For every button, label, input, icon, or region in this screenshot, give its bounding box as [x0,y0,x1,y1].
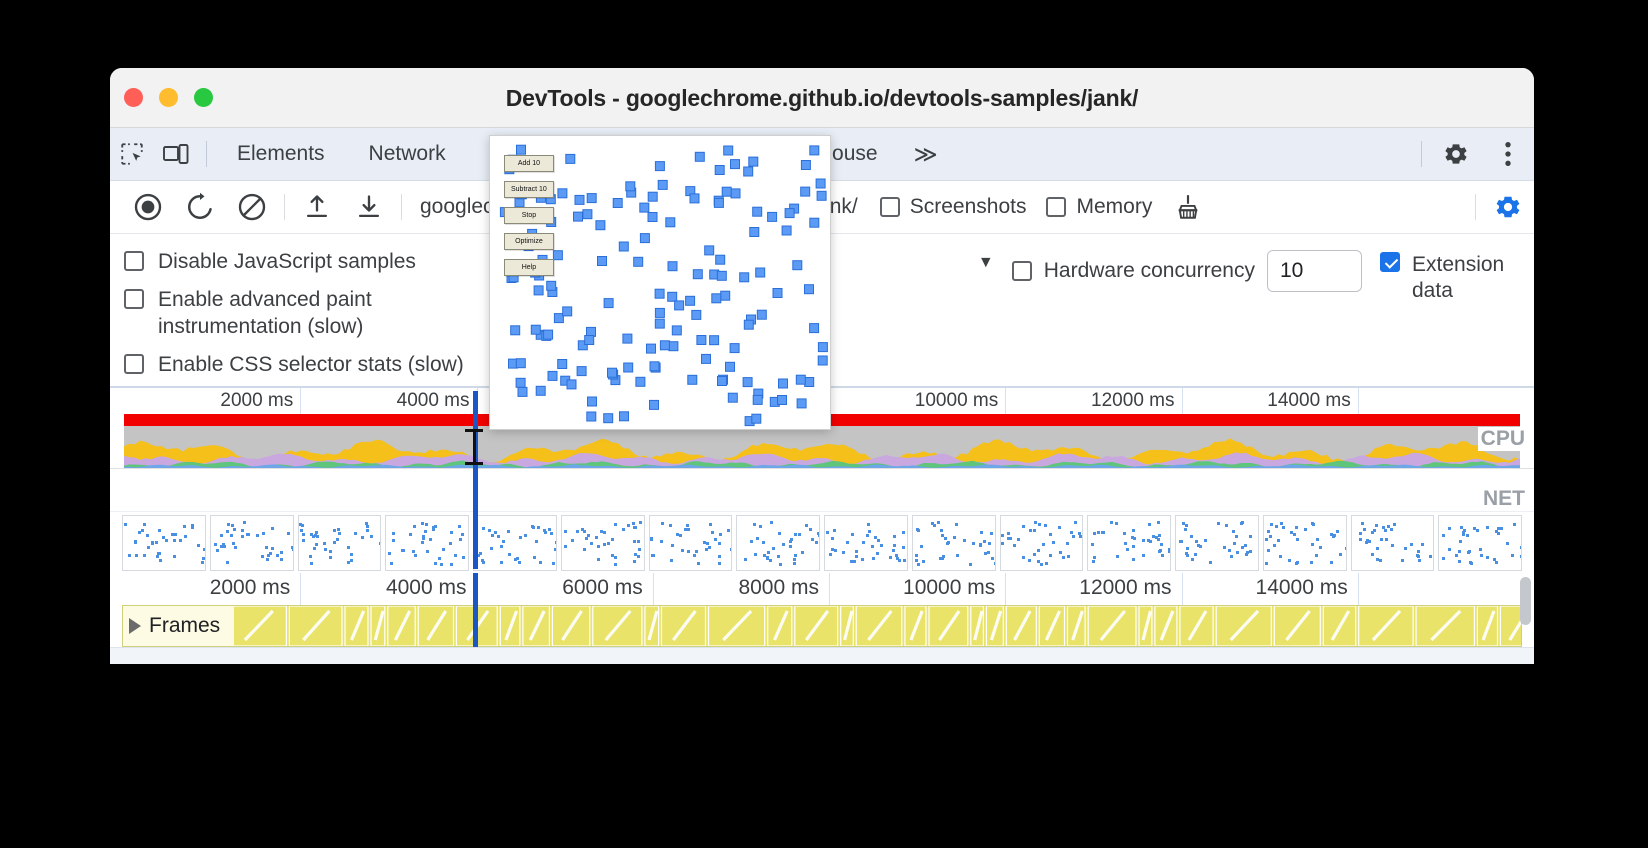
toolbar-divider-2 [401,194,402,220]
filmstrip-frame[interactable] [1175,515,1259,571]
advanced-paint-label: Enable advanced paint instrumentation (s… [158,286,424,340]
extension-data-checkbox[interactable]: Extension data [1380,252,1520,304]
record-icon[interactable] [122,184,174,230]
ruler-tick-label: 14000 ms [1267,390,1357,412]
window-title: DevTools - googlechrome.github.io/devtoo… [110,85,1534,112]
hardware-concurrency-label: Hardware concurrency [1044,259,1255,283]
frames-group-header[interactable]: Frames [123,606,234,646]
filmstrip-frame[interactable] [473,515,557,571]
timeline-playhead[interactable] [473,573,478,647]
capture-settings-gear-icon[interactable] [1482,184,1534,230]
filmstrip-frame[interactable] [385,515,469,571]
details-tab-bar: Summary Bottom-Up Call Tree Event Log [110,647,1534,664]
toolbar-right-actions [1469,184,1534,230]
tab-bottom-up[interactable]: Bottom-Up [272,650,413,664]
toolbar-divider-3 [1475,194,1476,220]
memory-checkbox-box[interactable] [1046,197,1066,217]
device-toolbar-icon[interactable] [154,132,198,176]
timeline-scrollbar-thumb[interactable] [1520,577,1531,625]
tab-elements[interactable]: Elements [215,128,347,180]
upload-icon[interactable] [291,184,343,230]
chevron-down-icon[interactable]: ▼ [978,254,994,272]
inspect-element-icon[interactable] [110,132,154,176]
tab-call-tree[interactable]: Call Tree [423,650,547,664]
broom-icon[interactable] [1162,184,1214,230]
filmstrip-frame[interactable] [912,515,996,571]
preview-button-help: Help [504,259,554,276]
tab-event-log[interactable]: Event Log [557,650,692,664]
css-selector-stats-box[interactable] [124,354,144,374]
filmstrip-frame[interactable] [824,515,908,571]
filmstrip-frame[interactable] [122,515,206,571]
filmstrip-frame[interactable] [1438,515,1522,571]
download-icon[interactable] [343,184,395,230]
tabbar-divider [206,141,207,167]
disable-js-samples-checkbox[interactable]: Disable JavaScript samples [124,248,464,275]
screenshots-checkbox-box[interactable] [880,197,900,217]
more-tabs-icon[interactable]: ≫ [900,128,952,180]
preview-button-stack: Add 10 Subtract 10 Stop Optimize Help [504,155,554,276]
extension-data-box[interactable] [1380,252,1400,272]
advanced-paint-checkbox[interactable]: Enable advanced paint instrumentation (s… [124,286,424,340]
frames-label: Frames [149,614,220,638]
tab-summary[interactable]: Summary [132,650,262,664]
screenshots-checkbox[interactable]: Screenshots [870,195,1037,219]
title-bar: DevTools - googlechrome.github.io/devtoo… [110,68,1534,128]
ruler-tick-label: 14000 ms [1256,576,1358,600]
preview-button-optimize: Optimize [504,233,554,250]
overview-playhead[interactable] [473,391,478,569]
capture-settings-right-group: ▼ Hardware concurrency 10 Extension data [978,244,1520,304]
advanced-paint-box[interactable] [124,289,144,309]
filmstrip-frame[interactable] [298,515,382,571]
css-selector-stats-label: Enable CSS selector stats (slow) [158,351,464,378]
cpu-area-chart [110,426,1534,468]
screenshots-label: Screenshots [910,195,1027,219]
filmstrip-frame[interactable] [649,515,733,571]
capture-settings-checkbox-column: Disable JavaScript samples Enable advanc… [124,244,464,378]
frames-bars [123,606,1522,646]
memory-checkbox[interactable]: Memory [1036,195,1162,219]
settings-gear-icon[interactable] [1430,132,1482,176]
ruler-tick [110,573,1359,605]
hardware-concurrency-input[interactable]: 10 [1267,250,1362,292]
cpu-band-label: CPU [1478,427,1528,451]
text-cursor-icon [464,429,484,465]
reload-and-record-icon[interactable] [174,184,226,230]
filmstrip-frame[interactable] [1351,515,1435,571]
tabbar-right-actions [1413,132,1534,176]
frames-track[interactable]: Frames [122,605,1522,647]
clear-icon[interactable] [226,184,278,230]
timeline-ruler[interactable]: 2000 ms4000 ms6000 ms8000 ms10000 ms1200… [110,573,1534,605]
screenshot-preview-popup: Add 10 Subtract 10 Stop Optimize Help [489,135,831,430]
disable-js-samples-box[interactable] [124,251,144,271]
filmstrip-frame[interactable] [1000,515,1084,571]
hardware-concurrency-group: Hardware concurrency 10 [1012,250,1362,292]
filmstrip-frame[interactable] [1087,515,1171,571]
tabbar-divider-right [1421,141,1422,167]
css-selector-stats-checkbox[interactable]: Enable CSS selector stats (slow) [124,351,464,378]
preview-button-subtract-10: Subtract 10 [504,181,554,198]
network-band[interactable]: NET [110,468,1534,511]
kebab-menu-icon[interactable] [1482,132,1534,176]
filmstrip[interactable] [110,511,1534,573]
toolbar-divider-1 [284,194,285,220]
filmstrip-frame[interactable] [736,515,820,571]
screenshot-stage: DevTools - googlechrome.github.io/devtoo… [0,0,1648,848]
extension-data-label: Extension data [1412,252,1520,304]
filmstrip-frame[interactable] [210,515,294,571]
filmstrip-frame[interactable] [1263,515,1347,571]
triangle-right-icon[interactable] [129,618,141,634]
disable-js-samples-label: Disable JavaScript samples [158,248,416,275]
tab-network[interactable]: Network [347,128,468,180]
preview-button-add-10: Add 10 [504,155,554,172]
hardware-concurrency-box[interactable] [1012,261,1032,281]
filmstrip-frame[interactable] [561,515,645,571]
net-band-label: NET [1480,487,1528,511]
memory-label: Memory [1076,195,1152,219]
cpu-usage-band[interactable]: CPU [110,426,1534,468]
preview-button-stop: Stop [504,207,554,224]
